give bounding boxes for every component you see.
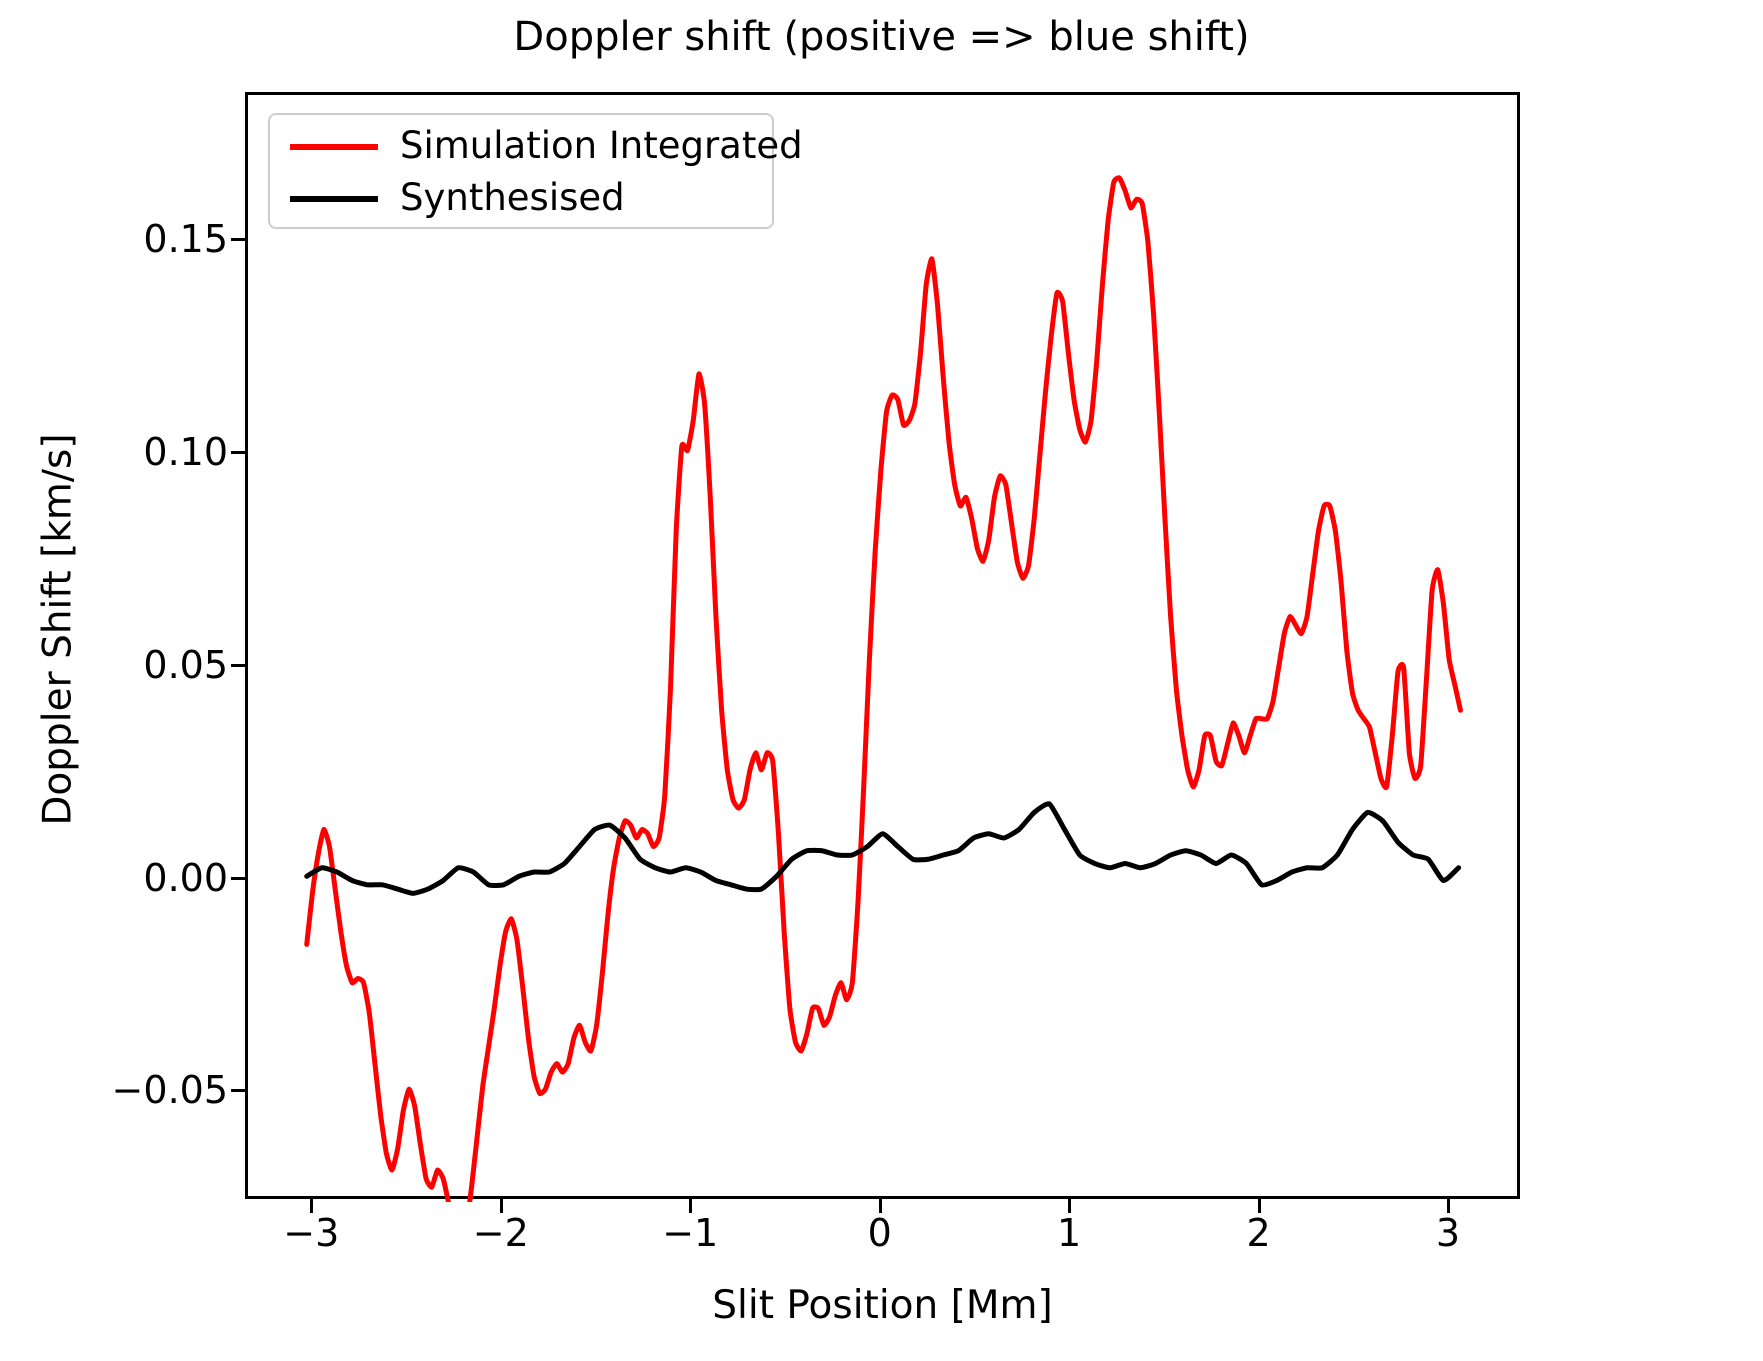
y-tick-mark xyxy=(231,451,245,454)
page-title: Doppler shift (positive => blue shift) xyxy=(0,14,1763,60)
legend-color-swatch xyxy=(290,196,378,202)
y-axis-label: Doppler Shift [km/s] xyxy=(36,280,81,980)
series-line-synthesised xyxy=(307,804,1459,894)
legend-color-swatch xyxy=(290,144,378,150)
x-tick-label: 3 xyxy=(1436,1211,1460,1255)
y-tick-mark xyxy=(231,238,245,241)
x-tick-label: −1 xyxy=(662,1211,718,1255)
legend-label: Simulation Integrated xyxy=(400,121,803,171)
y-tick-label: 0.15 xyxy=(143,217,228,261)
y-tick-label: 0.05 xyxy=(143,643,228,687)
x-tick-label: 2 xyxy=(1246,1211,1270,1255)
chart-legend: Simulation IntegratedSynthesised xyxy=(268,113,774,229)
x-tick-label: −2 xyxy=(473,1211,529,1255)
y-tick-mark xyxy=(231,1089,245,1092)
x-tick-label: 1 xyxy=(1057,1211,1081,1255)
y-tick-label: 0.10 xyxy=(143,430,228,474)
figure-canvas: Doppler shift (positive => blue shift) 0… xyxy=(0,0,1763,1361)
y-tick-label: 0.00 xyxy=(143,856,228,900)
x-tick-label: −3 xyxy=(283,1211,339,1255)
legend-entry: Simulation Integrated xyxy=(270,121,772,171)
x-tick-label: 0 xyxy=(868,1211,892,1255)
y-tick-mark xyxy=(231,664,245,667)
y-tick-mark xyxy=(231,877,245,880)
plot-area xyxy=(245,92,1520,1199)
legend-label: Synthesised xyxy=(400,173,625,223)
y-axis-tick-labels: 0.150.100.050.00−0.05 xyxy=(0,0,228,1361)
legend-entry: Synthesised xyxy=(270,173,772,223)
x-axis-label: Slit Position [Mm] xyxy=(245,1283,1520,1328)
y-tick-label: −0.05 xyxy=(112,1068,228,1112)
series-line-simulation-integrated xyxy=(307,178,1461,1202)
chart-canvas xyxy=(248,95,1523,1202)
